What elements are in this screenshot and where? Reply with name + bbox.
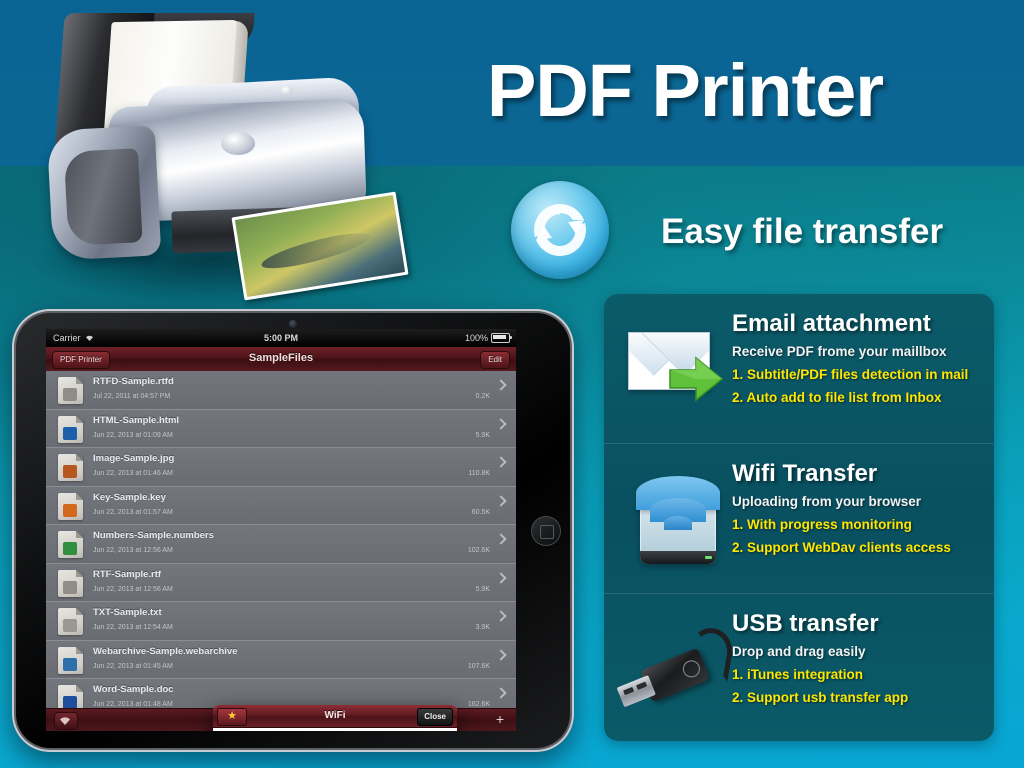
chevron-right-icon [495,456,506,467]
feature-email-attachment: Email attachment Receive PDF frome your … [604,294,994,443]
file-rtf-icon [58,570,83,597]
feature-subtitle: Receive PDF frome your maillbox [732,344,986,359]
close-button[interactable]: Close [417,708,453,726]
file-name: HTML-Sample.html [93,415,179,426]
feature-bullet: 1. With progress monitoring [732,517,986,532]
feature-title: Email attachment [732,310,986,339]
file-size: 107.6K [468,663,490,670]
wifi-modal: ★ WiFi Close [213,705,457,731]
file-date: Jun 22, 2013 at 01:48 AM [93,701,173,708]
battery-full-icon [491,333,510,343]
chevron-right-icon [495,687,506,698]
file-row[interactable]: HTML-Sample.htmlJun 22, 2013 at 01:09 AM… [46,410,516,449]
file-numbers-icon [58,531,83,558]
feature-bullet: 1. iTunes integration [732,667,986,682]
file-name: Numbers-Sample.numbers [93,530,214,541]
file-name: Key-Sample.key [93,492,166,503]
file-row[interactable]: Key-Sample.keyJun 22, 2013 at 01:57 AM60… [46,487,516,526]
file-row[interactable]: Numbers-Sample.numbersJun 22, 2013 at 12… [46,525,516,564]
edit-button[interactable]: Edit [480,351,510,369]
chevron-right-icon [495,572,506,583]
file-date: Jun 22, 2013 at 01:46 AM [93,470,173,477]
feature-bullet: 2. Auto add to file list from Inbox [732,390,986,405]
file-size: 60.5K [472,509,490,516]
ipad-camera [289,320,297,328]
chevron-right-icon [495,418,506,429]
file-size: 5.9K [476,586,490,593]
file-size: 162.6K [468,701,490,708]
status-time: 5:00 PM [46,333,516,343]
file-webarchive-icon [58,647,83,674]
file-size: 110.8K [468,470,490,477]
file-date: Jun 22, 2013 at 01:57 AM [93,509,173,516]
nav-title: SampleFiles [46,352,516,364]
file-html-icon [58,416,83,443]
wifi-transfer-icon [624,462,734,572]
file-date: Jun 22, 2013 at 01:45 AM [93,663,173,670]
file-date: Jun 22, 2013 at 12:54 AM [93,624,173,631]
battery-percent: 100% [465,333,488,343]
printer-illustration [22,8,412,308]
file-name: RTF-Sample.rtf [93,569,161,580]
file-date: Jun 22, 2013 at 12:56 AM [93,586,173,593]
sync-refresh-icon [511,181,609,279]
ios-status-bar: Carrier 5:00 PM 100% [46,329,516,347]
chevron-right-icon [495,649,506,660]
file-size: 0.2K [476,393,490,400]
file-name: Word-Sample.doc [93,684,174,695]
chevron-right-icon [495,379,506,390]
chevron-right-icon [495,495,506,506]
file-date: Jun 22, 2013 at 12:56 AM [93,547,173,554]
ios-nav-bar: PDF Printer SampleFiles Edit [46,347,516,372]
feature-usb-transfer: USB transfer Drop and drag easily 1. iTu… [604,593,994,743]
printer-power-knob [221,132,255,155]
file-row[interactable]: Image-Sample.jpgJun 22, 2013 at 01:46 AM… [46,448,516,487]
printer-left-side [47,125,162,260]
file-size: 5.9K [476,432,490,439]
file-row[interactable]: RTF-Sample.rtfJun 22, 2013 at 12:56 AM5.… [46,564,516,603]
feature-wifi-transfer: Wifi Transfer Uploading from your browse… [604,443,994,593]
feature-bullet: 1. Subtitle/PDF files detection in mail [732,367,986,382]
email-attachment-icon [624,312,734,422]
feature-bullet: 2. Support usb transfer app [732,690,986,705]
ipad-device: Carrier 5:00 PM 100% PDF Printer SampleF… [12,309,574,752]
poster-canvas: PDF Printer Easy file transfer Carrier 5… [0,0,1024,768]
chevron-right-icon [495,610,506,621]
file-row[interactable]: Webarchive-Sample.webarchiveJun 22, 2013… [46,641,516,680]
file-name: RTFD-Sample.rtfd [93,376,174,387]
file-row[interactable]: TXT-Sample.txtJun 22, 2013 at 12:54 AM3.… [46,602,516,641]
file-size: 3.9K [476,624,490,631]
ipad-home-button[interactable] [531,516,561,546]
printer-indicator-dot [280,86,293,95]
add-file-button[interactable]: + [492,712,508,728]
file-key-icon [58,493,83,520]
feature-subtitle: Drop and drag easily [732,644,986,659]
chevron-right-icon [495,533,506,544]
banner-subtitle: Easy file transfer [661,212,943,252]
wifi-icon[interactable] [54,712,78,730]
feature-subtitle: Uploading from your browser [732,494,986,509]
file-name: Image-Sample.jpg [93,453,174,464]
file-date: Jul 22, 2011 at 04:57 PM [93,393,170,400]
feature-bullet: 2. Support WebDav clients access [732,540,986,555]
feature-panel: Email attachment Receive PDF frome your … [604,294,994,741]
file-date: Jun 22, 2013 at 01:09 AM [93,432,173,439]
green-arrow-icon [668,356,724,402]
file-name: TXT-Sample.txt [93,607,162,618]
file-name: Webarchive-Sample.webarchive [93,646,238,657]
feature-title: Wifi Transfer [732,460,986,489]
usb-transfer-icon [624,612,734,722]
file-rtfd-icon [58,377,83,404]
file-image-icon [58,454,83,481]
wifi-modal-titlebar: ★ WiFi Close [213,705,457,728]
feature-title: USB transfer [732,610,986,639]
ipad-screen: Carrier 5:00 PM 100% PDF Printer SampleF… [46,329,516,731]
file-txt-icon [58,608,83,635]
file-list[interactable]: RTFD-Sample.rtfdJul 22, 2011 at 04:57 PM… [46,371,516,709]
app-title: PDF Printer [487,48,883,133]
file-row[interactable]: RTFD-Sample.rtfdJul 22, 2011 at 04:57 PM… [46,371,516,410]
file-size: 102.6K [468,547,490,554]
